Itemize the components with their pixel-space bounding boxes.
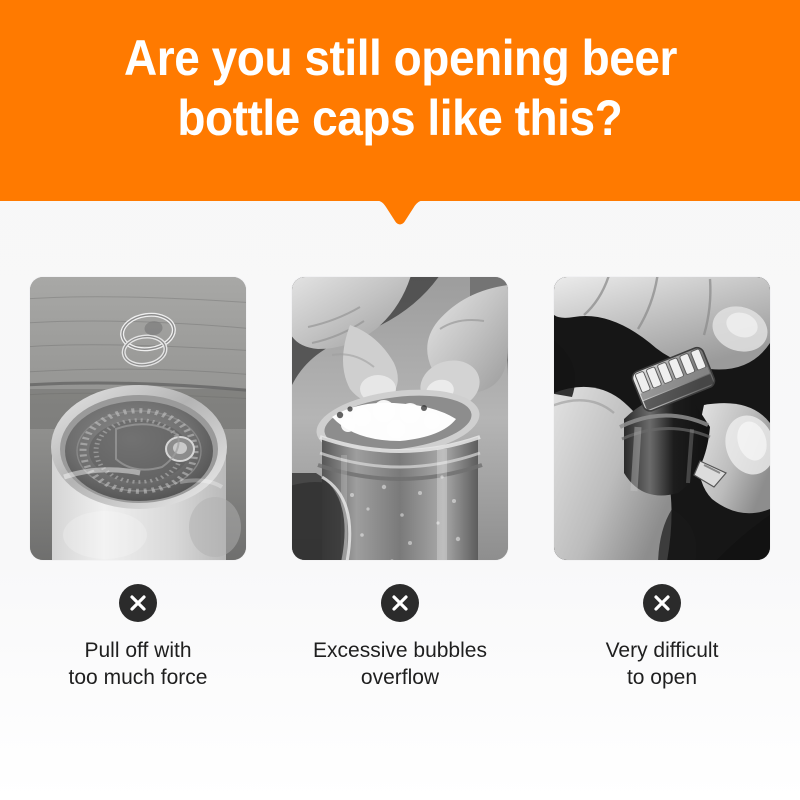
banner-title-line-1: Are you still opening beer bbox=[124, 28, 677, 88]
problem-card: Very difficult to open bbox=[554, 277, 770, 691]
cross-mark-icon bbox=[381, 584, 419, 622]
problem-cards-row: Pull off with too much force bbox=[0, 277, 800, 691]
card-caption: Excessive bubbles overflow bbox=[313, 637, 487, 691]
headline-banner: Are you still opening beer bottle caps l… bbox=[0, 0, 800, 201]
cross-mark-icon bbox=[643, 584, 681, 622]
banner-title-line-2: bottle caps like this? bbox=[178, 88, 623, 148]
photo-prying-bottle-cap bbox=[554, 277, 770, 560]
card-caption: Pull off with too much force bbox=[69, 637, 208, 691]
speech-bubble-tail-down-icon bbox=[371, 200, 429, 230]
card-caption: Very difficult to open bbox=[606, 637, 719, 691]
problem-card: Excessive bubbles overflow bbox=[292, 277, 508, 691]
photo-foam-overflow-can bbox=[292, 277, 508, 560]
problem-card: Pull off with too much force bbox=[30, 277, 246, 691]
photo-pull-tab-can bbox=[30, 277, 246, 560]
cross-mark-icon bbox=[119, 584, 157, 622]
